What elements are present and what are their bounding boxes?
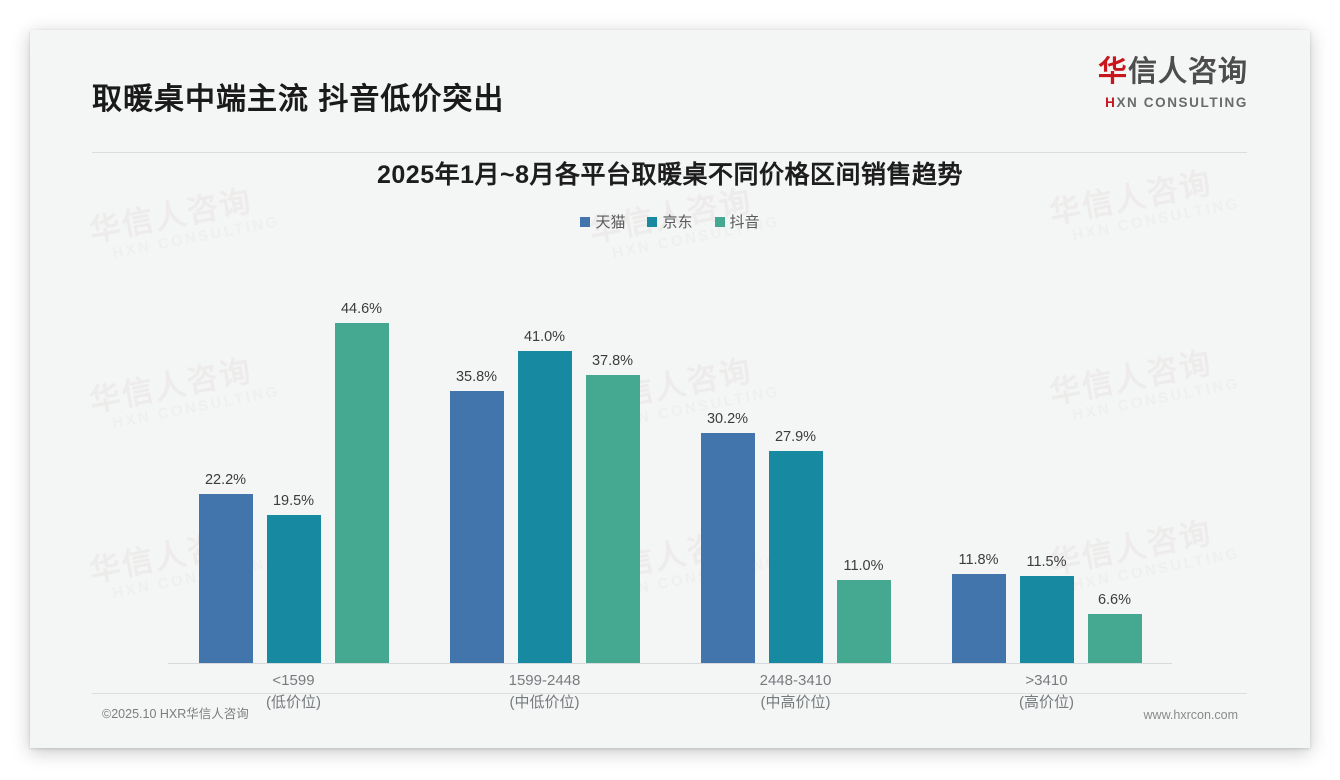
bar-column[interactable]: 27.9% [769, 282, 823, 664]
legend-label: 天猫 [595, 211, 625, 232]
brand-logo-en: HXN CONSULTING [1098, 96, 1248, 110]
x-axis-label-range: 2448-3410 [670, 670, 921, 692]
x-axis-label-tier: (中高价位) [670, 692, 921, 714]
x-axis-label: 2448-3410(中高价位) [670, 670, 921, 714]
bar[interactable] [952, 574, 1006, 664]
bar-group: 11.8%11.5%6.6% [921, 282, 1172, 664]
brand-logo-cn-accent: 华 [1098, 56, 1128, 88]
x-axis-label-tier: (高价位) [921, 692, 1172, 714]
slide-header: 取暖桌中端主流 抖音低价突出 华信人咨询 HXN CONSULTING [30, 30, 1310, 122]
bar[interactable] [586, 375, 640, 664]
legend-item-0[interactable]: 天猫 [580, 211, 625, 232]
brand-logo-en-rest: XN CONSULTING [1116, 95, 1248, 110]
bar-value-label: 37.8% [592, 353, 633, 369]
x-axis-label: 1599-2448(中低价位) [419, 670, 670, 714]
x-axis-line [168, 663, 1172, 664]
footer-divider [92, 693, 1247, 694]
x-axis-label-tier: (中低价位) [419, 692, 670, 714]
brand-logo-cn-rest: 信人咨询 [1128, 56, 1248, 88]
bar-column[interactable]: 35.8% [450, 282, 504, 664]
bar-value-label: 44.6% [341, 301, 382, 317]
footer-website: www.hxrcon.com [1144, 708, 1238, 722]
bar-value-label: 11.8% [958, 552, 998, 568]
bar[interactable] [267, 515, 321, 664]
legend-label: 抖音 [730, 211, 760, 232]
bar-column[interactable]: 11.5% [1020, 282, 1074, 664]
legend-item-1[interactable]: 京东 [647, 211, 692, 232]
bar-value-label: 11.5% [1026, 554, 1066, 570]
bar-value-label: 30.2% [707, 411, 748, 427]
bar-group: 22.2%19.5%44.6% [168, 282, 419, 664]
chart-plot-area: 22.2%19.5%44.6%35.8%41.0%37.8%30.2%27.9%… [168, 282, 1172, 664]
x-axis-label-range: 1599-2448 [419, 670, 670, 692]
legend-item-2[interactable]: 抖音 [715, 211, 760, 232]
bar[interactable] [1020, 576, 1074, 664]
bar-value-label: 6.6% [1098, 592, 1131, 608]
x-axis-label-range: <1599 [168, 670, 419, 692]
bar-value-label: 19.5% [273, 493, 314, 509]
bar-groups: 22.2%19.5%44.6%35.8%41.0%37.8%30.2%27.9%… [168, 282, 1172, 664]
bar[interactable] [837, 580, 891, 664]
bar[interactable] [199, 494, 253, 664]
bar-column[interactable]: 30.2% [701, 282, 755, 664]
bar-column[interactable]: 41.0% [518, 282, 572, 664]
chart-legend: 天猫京东抖音 [30, 211, 1310, 232]
x-axis-labels: <1599(低价位)1599-2448(中低价位)2448-3410(中高价位)… [168, 670, 1172, 714]
page-title: 取暖桌中端主流 抖音低价突出 [92, 74, 504, 118]
bar[interactable] [769, 451, 823, 664]
brand-logo-cn: 华信人咨询 [1098, 58, 1248, 87]
bar-value-label: 22.2% [205, 472, 246, 488]
brand-logo-en-accent: H [1105, 95, 1116, 110]
bar-value-label: 11.0% [843, 558, 883, 574]
header-divider [92, 152, 1247, 153]
bar-group: 30.2%27.9%11.0% [670, 282, 921, 664]
bar-value-label: 27.9% [775, 429, 816, 445]
bar[interactable] [701, 433, 755, 664]
x-axis-label-range: >3410 [921, 670, 1172, 692]
bar-column[interactable]: 44.6% [335, 282, 389, 664]
legend-swatch-icon [647, 217, 657, 227]
chart-container: 2025年1月~8月各平台取暖桌不同价格区间销售趋势 天猫京东抖音 22.2%1… [30, 30, 1310, 748]
bar[interactable] [1088, 614, 1142, 664]
bar[interactable] [450, 391, 504, 665]
chart-title: 2025年1月~8月各平台取暖桌不同价格区间销售趋势 [30, 155, 1310, 191]
legend-swatch-icon [715, 217, 725, 227]
bar-value-label: 35.8% [456, 369, 497, 385]
bar[interactable] [335, 323, 389, 664]
bar-column[interactable]: 11.8% [952, 282, 1006, 664]
slide-canvas: 华信人咨询 HXN CONSULTING 华信人咨询 HXN CONSULTIN… [30, 30, 1310, 748]
bar-column[interactable]: 6.6% [1088, 282, 1142, 664]
bar-column[interactable]: 22.2% [199, 282, 253, 664]
x-axis-label: >3410(高价位) [921, 670, 1172, 714]
legend-label: 京东 [662, 211, 692, 232]
legend-swatch-icon [580, 217, 590, 227]
bar-column[interactable]: 19.5% [267, 282, 321, 664]
bar-group: 35.8%41.0%37.8% [419, 282, 670, 664]
footer-copyright: ©2025.10 HXR华信人咨询 [102, 703, 249, 722]
bar-value-label: 41.0% [524, 329, 565, 345]
brand-logo: 华信人咨询 HXN CONSULTING [1098, 58, 1248, 110]
bar-column[interactable]: 11.0% [837, 282, 891, 664]
bar-column[interactable]: 37.8% [586, 282, 640, 664]
bar[interactable] [518, 351, 572, 664]
